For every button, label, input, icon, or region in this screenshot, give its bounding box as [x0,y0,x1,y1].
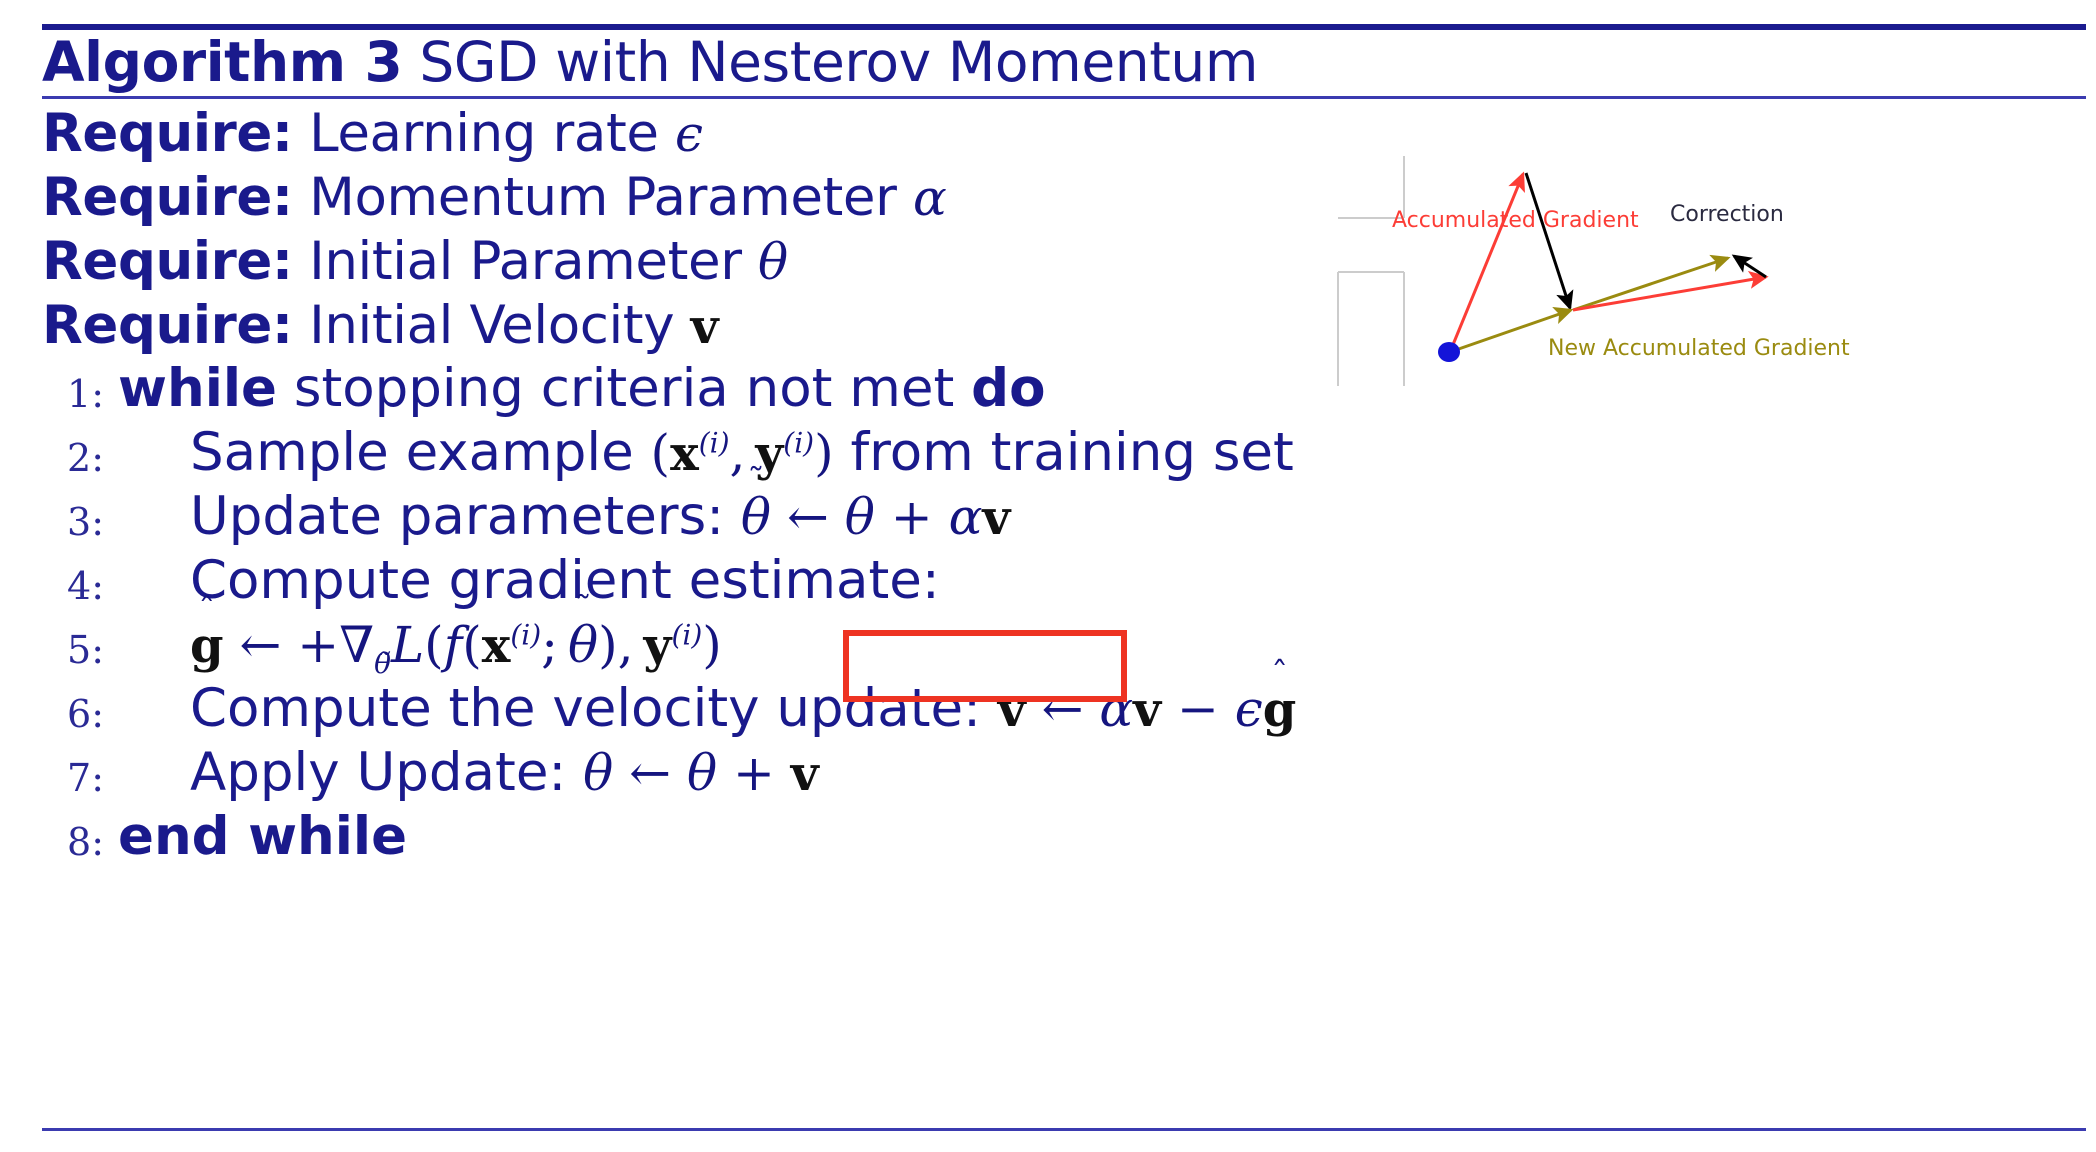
step-5-math: ˆg ← +∇θ̃L(f(x(i); ˜θ), y(i)) [190,616,722,674]
while-condition: stopping criteria not met [277,358,971,419]
step-2-math: (x(i), y(i)) [651,424,834,482]
require-text: Momentum Parameter [309,167,913,228]
step-number-1: 1: [42,372,104,416]
require-line-initial-parameter: Require: Initial Parameter θ [42,231,788,292]
step-number-8: 8: [42,820,104,864]
epsilon-symbol: ϵ [675,105,703,163]
step-2-text-after: from training set [834,422,1294,483]
diagram-frame [1338,156,1404,386]
require-keyword: Require: [42,167,293,228]
step-4-text: Compute gradient estimate: [190,550,940,611]
nesterov-momentum-diagram: Accumulated Gradient Correction New Accu… [1330,140,2096,390]
step-number-4: 4: [42,564,104,608]
alpha-symbol: α [913,169,946,227]
correction-label: Correction [1670,202,1784,227]
step-line-6: Compute the velocity update: v ← αv − ϵˆ… [190,678,1296,739]
step-line-2: Sample example (x(i), y(i)) from trainin… [190,422,1294,483]
new-accumulated-gradient-arrow-2 [1573,258,1728,310]
step-number-6: 6: [42,692,104,736]
accumulated-gradient-arrow-2 [1573,277,1766,310]
end-while-keyword: end while [118,806,407,867]
step-line-4: Compute gradient estimate: [190,550,940,611]
step-line-5: ˆg ← +∇θ̃L(f(x(i); ˜θ), y(i)) [190,614,722,680]
step-line-1: while stopping criteria not met do [118,358,1046,419]
new-accumulated-gradient-label: New Accumulated Gradient [1548,336,1850,361]
step-number-2: 2: [42,436,104,480]
require-text: Initial Parameter [309,231,758,292]
require-line-initial-velocity: Require: Initial Velocity v [42,295,718,356]
accumulated-gradient-arrow [1450,174,1523,352]
algorithm-title-text: SGD with Nesterov Momentum [419,30,1258,94]
do-keyword: do [971,358,1045,419]
step-2-text: Sample example [190,422,651,483]
title-separator-rule [42,96,2086,99]
require-keyword: Require: [42,295,293,356]
step-7-text: Apply Update: [190,742,583,803]
accumulated-gradient-label: Accumulated Gradient [1392,208,1639,233]
origin-point [1438,342,1460,362]
while-keyword: while [118,358,277,419]
velocity-symbol: v [691,299,719,355]
bottom-rule [42,1128,2086,1131]
require-line-learning-rate: Require: Learning rate ϵ [42,103,703,164]
step-number-3: 3: [42,500,104,544]
algorithm-page: Algorithm 3 SGD with Nesterov Momentum R… [0,0,2096,1152]
step-line-7: Apply Update: θ ← θ + v [190,742,819,803]
algorithm-title-keyword: Algorithm 3 [42,30,402,94]
correction-arrow-2 [1734,256,1766,277]
algorithm-title: Algorithm 3 SGD with Nesterov Momentum [42,30,1258,94]
step-line-8: end while [118,806,407,867]
require-text: Learning rate [309,103,675,164]
step-number-7: 7: [42,756,104,800]
require-keyword: Require: [42,231,293,292]
require-text: Initial Velocity [309,295,690,356]
require-keyword: Require: [42,103,293,164]
correction-arrow [1526,173,1570,308]
theta-symbol: θ [758,233,788,291]
step-number-5: 5: [42,628,104,672]
highlight-box-step3 [843,630,1127,702]
step-line-3: Update parameters: ˜θ ← θ + αv [190,486,1010,547]
step-3-math: ˜θ ← θ + αv [741,488,1010,546]
step-7-math: θ ← θ + v [583,744,819,802]
require-line-momentum-parameter: Require: Momentum Parameter α [42,167,946,228]
step-3-text: Update parameters: [190,486,741,547]
